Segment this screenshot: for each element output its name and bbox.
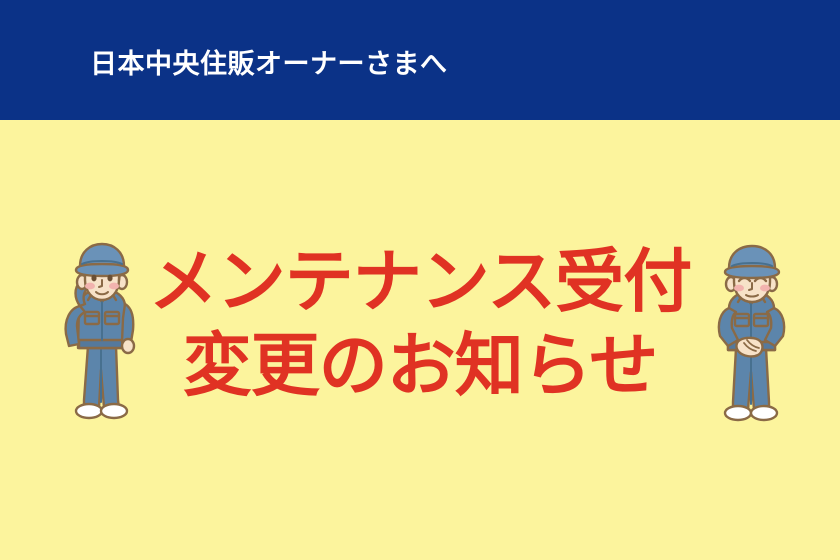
headline-line-2: 変更のお知らせ <box>0 324 840 409</box>
page-title: 日本中央住販オーナーさまへ <box>90 48 448 82</box>
header-band: 日本中央住販オーナーさまへ <box>0 0 840 120</box>
headline-block: メンテナンス受付 変更のお知らせ <box>0 240 840 409</box>
notice-banner: 日本中央住販オーナーさまへ <box>0 0 840 560</box>
headline-line-1: メンテナンス受付 <box>0 240 840 325</box>
